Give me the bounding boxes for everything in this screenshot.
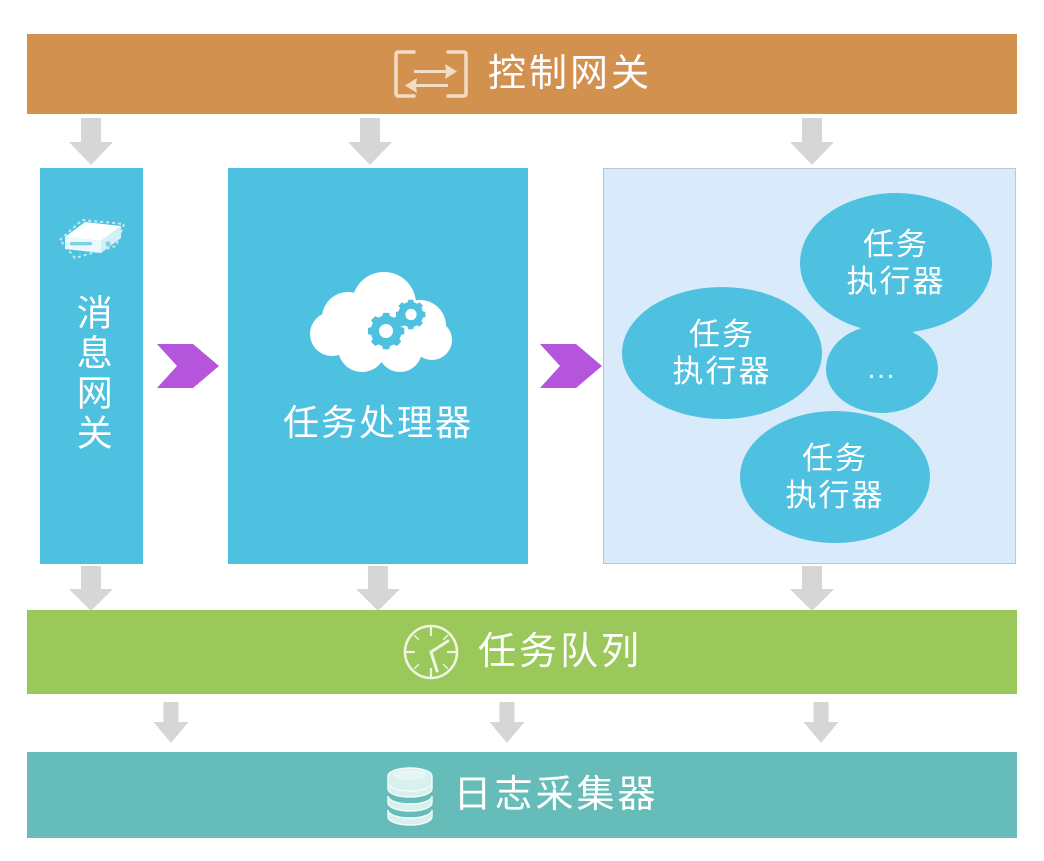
clock-icon	[402, 623, 460, 681]
arrow-queue-to-log-collector-center	[486, 702, 528, 749]
task-executor-left-line1: 任务	[689, 316, 755, 353]
task-executor-more[interactable]: …	[826, 325, 938, 413]
arrow-gateway-to-message-gateway	[64, 118, 118, 171]
server-device-icon	[53, 210, 131, 272]
task-processor-block[interactable]: 任务处理器	[228, 168, 528, 564]
log-collector-band[interactable]: 日志采集器	[27, 752, 1017, 838]
task-executor-top-line2: 执行器	[847, 263, 946, 300]
task-executor-bottom-line2: 执行器	[786, 477, 885, 514]
task-executor-bottom[interactable]: 任务 执行器	[740, 411, 930, 543]
flow-arrow-message-to-processor	[155, 338, 223, 394]
message-gateway-block[interactable]: 消息网关	[40, 168, 143, 564]
arrow-queue-to-log-collector-left	[150, 702, 192, 749]
control-gateway-label: 控制网关	[488, 55, 652, 93]
architecture-diagram: 控制网关 消息网关	[0, 0, 1044, 861]
task-queue-band[interactable]: 任务队列	[27, 610, 1017, 694]
task-processor-label: 任务处理器	[283, 394, 473, 446]
task-executor-top-line1: 任务	[863, 226, 929, 263]
arrow-gateway-to-executor-pool	[785, 118, 839, 171]
task-executor-left[interactable]: 任务 执行器	[622, 287, 822, 419]
control-gateway-band[interactable]: 控制网关	[27, 34, 1017, 114]
task-executor-more-label: …	[866, 351, 898, 387]
database-icon	[385, 764, 435, 826]
task-queue-label: 任务队列	[478, 633, 642, 671]
cloud-gears-icon	[296, 272, 460, 384]
exchange-gateway-icon	[392, 48, 470, 100]
task-executor-top[interactable]: 任务 执行器	[800, 193, 992, 333]
task-executor-left-line2: 执行器	[673, 353, 772, 390]
arrow-queue-to-log-collector-right	[800, 702, 842, 749]
message-gateway-label: 消息网关	[70, 294, 112, 454]
executor-pool-panel: 任务 执行器 任务 执行器 … 任务 执行器	[603, 168, 1016, 564]
task-executor-bottom-line1: 任务	[802, 440, 868, 477]
log-collector-label: 日志采集器	[453, 776, 658, 814]
flow-arrow-processor-to-executors	[538, 338, 606, 394]
arrow-gateway-to-task-processor	[343, 118, 397, 171]
